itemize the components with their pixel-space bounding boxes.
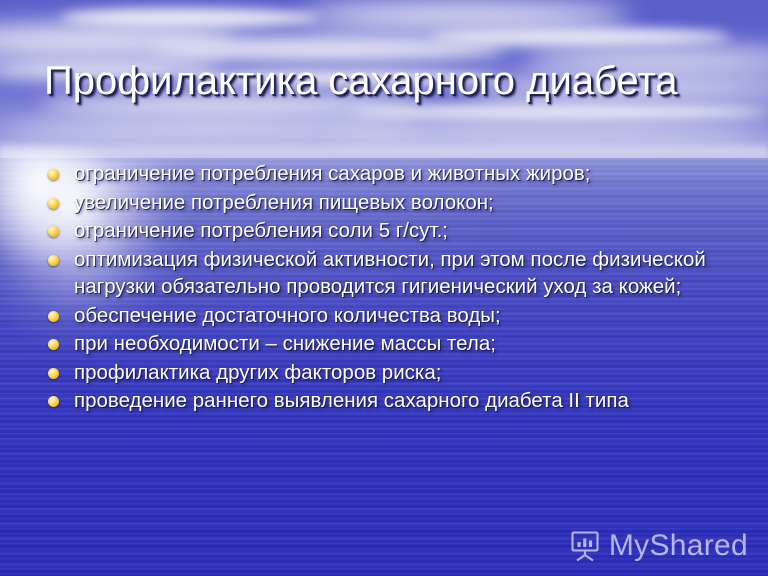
bullet-dot-icon xyxy=(48,169,59,180)
list-item: при необходимости – снижение массы тела; xyxy=(44,330,744,358)
list-item: увеличение потребления пищевых волокон; xyxy=(44,189,744,217)
list-item-label: ограничение потребления соли 5 г/сут.; xyxy=(74,219,448,242)
list-item: оптимизация физической активности, при э… xyxy=(44,246,744,301)
list-item: профилактика других факторов риска; xyxy=(44,359,744,387)
list-item: проведение раннего выявления сахарного д… xyxy=(44,387,744,415)
bullet-dot-icon xyxy=(48,368,59,379)
bullet-dot-icon xyxy=(48,339,59,350)
bullet-dot-icon xyxy=(48,311,59,322)
list-item: ограничение потребления сахаров и животн… xyxy=(44,160,744,188)
slide-title: Профилактика сахарного диабета xyxy=(44,58,744,104)
list-item-label: оптимизация физической активности, при э… xyxy=(74,248,706,299)
list-item-label: при необходимости – снижение массы тела; xyxy=(74,332,496,355)
list-item: ограничение потребления соли 5 г/сут.; xyxy=(44,217,744,245)
bullet-dot-icon xyxy=(48,198,59,209)
list-item-label: увеличение потребления пищевых волокон; xyxy=(74,191,494,214)
list-item-label: обеспечение достаточного количества воды… xyxy=(74,304,501,327)
list-item-label: проведение раннего выявления сахарного д… xyxy=(74,389,629,412)
list-item-label: профилактика других факторов риска; xyxy=(74,361,441,384)
bullet-list: ограничение потребления сахаров и животн… xyxy=(44,160,744,416)
slide-canvas: Профилактика сахарного диабета ограничен… xyxy=(0,0,768,576)
bullet-dot-icon xyxy=(48,255,59,266)
list-item: обеспечение достаточного количества воды… xyxy=(44,302,744,330)
bullet-dot-icon xyxy=(48,396,59,407)
bullet-dot-icon xyxy=(48,226,59,237)
list-item-label: ограничение потребления сахаров и животн… xyxy=(74,162,591,185)
